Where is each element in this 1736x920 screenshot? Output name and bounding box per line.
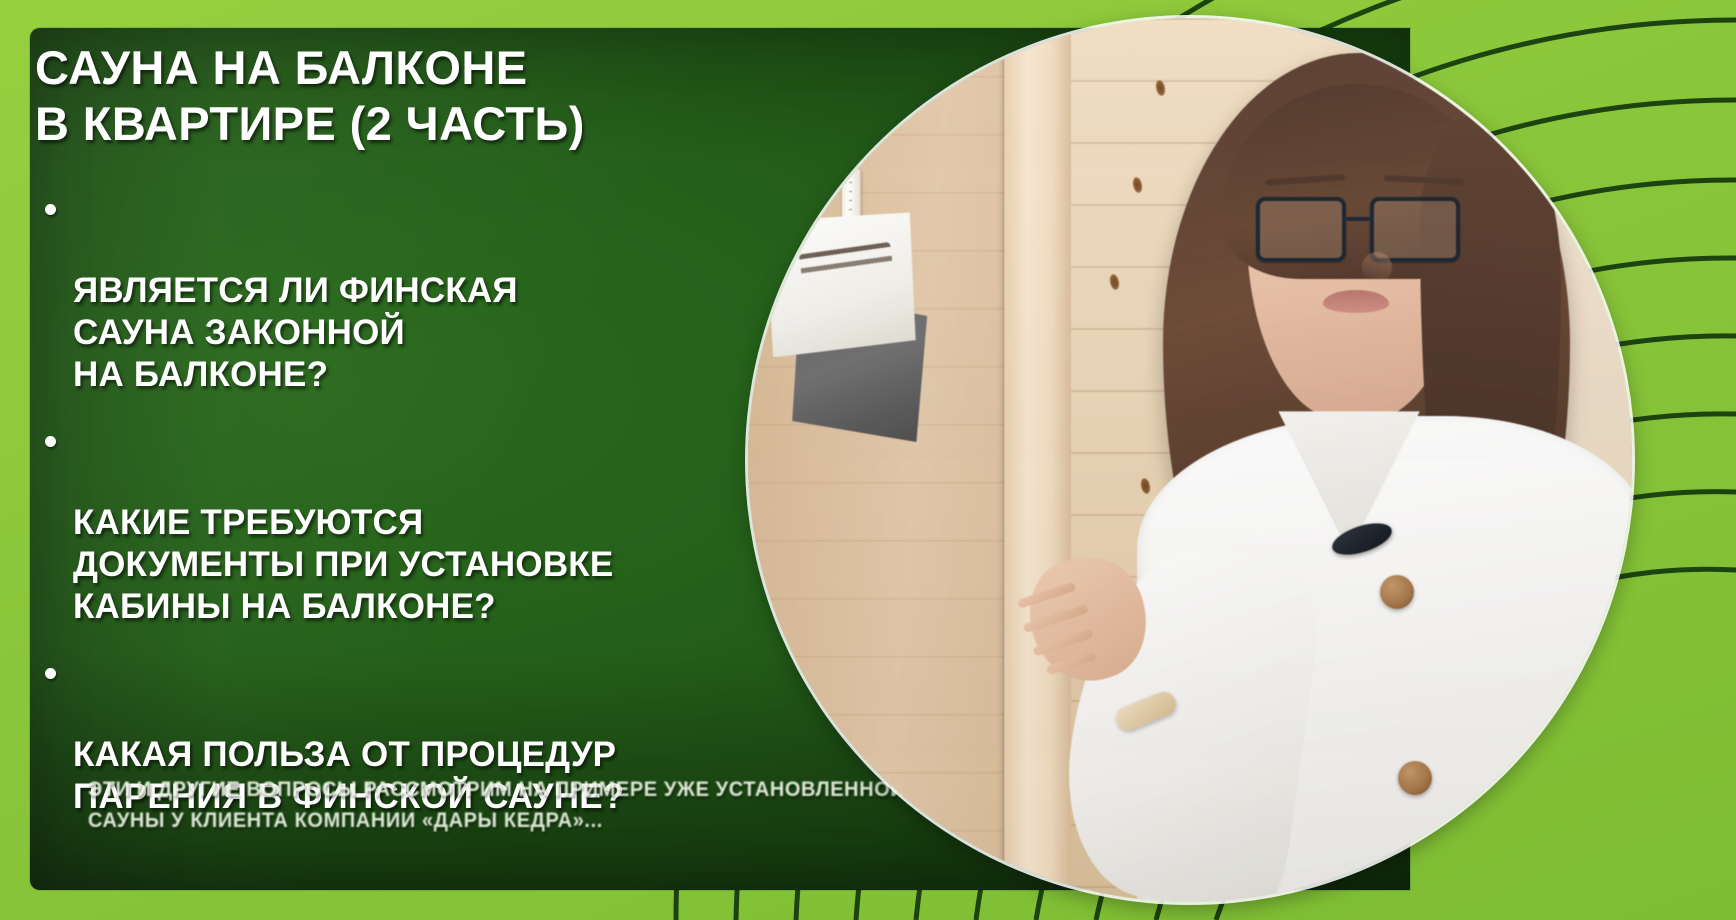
list-item: ЯВЛЯЕТСЯ ЛИ ФИНСКАЯ САУНА ЗАКОННОЙ НА БА… (35, 186, 795, 396)
list-item-label: ЯВЛЯЕТСЯ ЛИ ФИНСКАЯ САУНА ЗАКОННОЙ НА БА… (73, 271, 518, 394)
bullet-dot-icon (45, 668, 56, 679)
bullet-dot-icon (45, 204, 56, 215)
page-title: САУНА НА БАЛКОНЕ В КВАРТИРЕ (2 ЧАСТЬ) (35, 40, 795, 152)
bullet-list: ЯВЛЯЕТСЯ ЛИ ФИНСКАЯ САУНА ЗАКОННОЙ НА БА… (35, 186, 795, 818)
thumbnail-canvas: САУНА НА БАЛКОНЕ В КВАРТИРЕ (2 ЧАСТЬ) ЯВ… (0, 0, 1736, 920)
presenter-photo (748, 18, 1632, 902)
bullet-dot-icon (45, 436, 56, 447)
list-item-label: КАКИЕ ТРЕБУЮТСЯ ДОКУМЕНТЫ ПРИ УСТАНОВКЕ … (73, 503, 613, 626)
text-column: САУНА НА БАЛКОНЕ В КВАРТИРЕ (2 ЧАСТЬ) ЯВ… (35, 40, 795, 840)
photo-softening-overlay (748, 18, 1632, 902)
list-item: КАКИЕ ТРЕБУЮТСЯ ДОКУМЕНТЫ ПРИ УСТАНОВКЕ … (35, 418, 795, 628)
photo-inner (748, 18, 1632, 902)
